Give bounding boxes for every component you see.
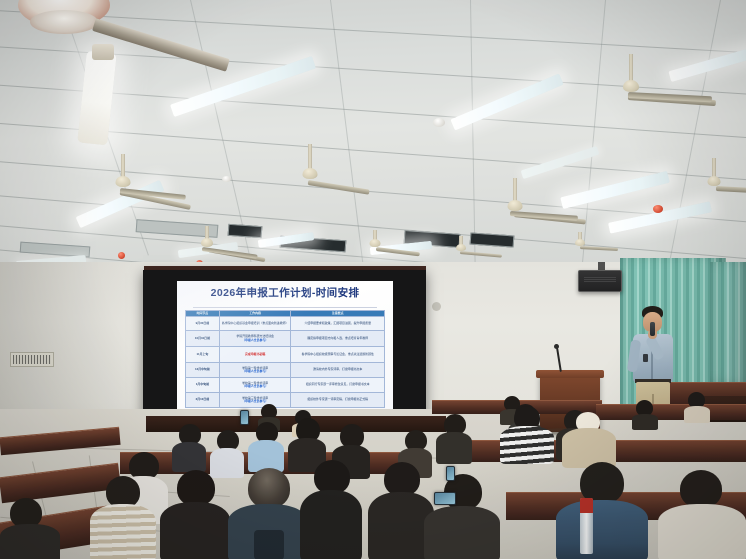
ceiling-fan	[250, 144, 370, 196]
audience-member	[172, 424, 206, 468]
lectern-top	[536, 370, 604, 378]
photo-scene: 2026年申报工作计划-时间安排 时间节点 工作内容 注意要点 9月30日前 各…	[0, 0, 746, 559]
audience-member	[424, 474, 500, 559]
slide-glare	[177, 281, 393, 411]
audience-member	[556, 462, 648, 559]
ceiling-fan	[664, 158, 746, 204]
presentation-slide: 2026年申报工作计划-时间安排 时间节点 工作内容 注意要点 9月30日前 各…	[177, 281, 393, 411]
water-bottle	[580, 498, 593, 554]
fire-sprinkler-icon	[118, 252, 125, 259]
wall-sign	[10, 352, 54, 367]
audience-member	[248, 422, 284, 470]
smartphone	[446, 466, 455, 481]
smartphone	[240, 410, 249, 425]
wall-mark	[432, 302, 441, 311]
pendant-light	[92, 44, 114, 60]
microphone-head-icon	[554, 344, 559, 349]
window-curtain	[710, 262, 746, 382]
presenter-badge	[643, 354, 648, 362]
wall-speaker	[578, 270, 622, 292]
audience-member	[436, 414, 472, 462]
audience-member	[160, 470, 230, 559]
fire-sprinkler-icon	[653, 205, 663, 213]
ceiling-sensor-icon	[222, 176, 231, 182]
audience-member	[684, 392, 710, 420]
smartphone	[434, 492, 456, 505]
ceiling-sensor-icon	[433, 118, 445, 127]
audience-member	[228, 468, 308, 559]
desk-row	[596, 404, 746, 420]
ceiling-fan	[330, 230, 420, 266]
ceiling-fan	[556, 54, 706, 120]
ceiling	[0, 0, 746, 268]
handheld-microphone	[650, 322, 655, 336]
audience-member	[0, 498, 60, 559]
audience-member-striped	[90, 476, 156, 559]
ceiling-fan	[58, 154, 188, 212]
audience-member	[300, 460, 362, 559]
ceiling-fan	[450, 178, 580, 234]
audience-member	[562, 412, 616, 466]
audience-member	[658, 470, 746, 559]
audience-member-striped	[500, 406, 554, 462]
ceiling-fan	[540, 232, 620, 264]
audience-member	[632, 400, 658, 428]
